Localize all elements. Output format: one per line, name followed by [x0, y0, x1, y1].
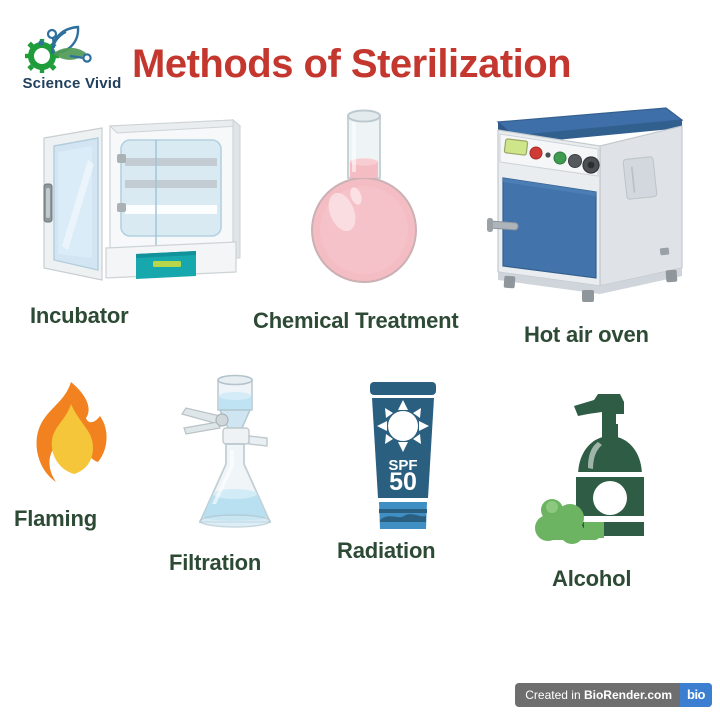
- round-bottom-flask-icon: [294, 100, 434, 300]
- hand-sanitizer-pump-bottle-icon: [528, 388, 688, 553]
- method-label-flaming: Flaming: [14, 506, 97, 532]
- page-title: Methods of Sterilization: [132, 42, 692, 87]
- method-card-incubator: Incubator: [18, 108, 250, 338]
- biorender-credit-brand: BioRender.com: [584, 688, 672, 702]
- method-label-filtration: Filtration: [169, 550, 261, 576]
- biorender-credit-prefix: Created in: [525, 688, 584, 702]
- incubator-icon: [18, 108, 250, 298]
- leaf-gear-molecule-icon: [8, 22, 136, 78]
- method-card-filtration: Filtration: [158, 372, 318, 587]
- spf-value: 50: [389, 468, 417, 496]
- biorender-logo: bio: [680, 683, 712, 707]
- method-label-incubator: Incubator: [30, 303, 128, 329]
- method-label-alcohol: Alcohol: [552, 566, 631, 592]
- brand-logo: Science Vivid: [8, 22, 136, 104]
- method-card-radiation: SPF 50 Radiation: [330, 378, 480, 578]
- biorender-credit-text: Created in BioRender.com: [515, 683, 680, 707]
- sunscreen-tube-icon: SPF 50: [348, 378, 458, 533]
- header: Science Vivid Methods of Sterilization: [0, 14, 720, 104]
- method-label-radiation: Radiation: [337, 538, 435, 564]
- filtration-apparatus-icon: [168, 372, 303, 544]
- hot-air-oven-icon: [470, 100, 696, 312]
- method-label-hot-air-oven: Hot air oven: [524, 322, 649, 348]
- method-card-chemical-treatment: Chemical Treatment: [250, 100, 474, 352]
- method-card-hot-air-oven: Hot air oven: [462, 100, 706, 358]
- method-card-flaming: Flaming: [14, 378, 144, 553]
- method-label-chemical-treatment: Chemical Treatment: [253, 308, 458, 334]
- method-card-alcohol: Alcohol: [510, 388, 700, 608]
- flame-icon: [22, 378, 118, 498]
- biorender-credit-badge[interactable]: Created in BioRender.com bio: [515, 683, 712, 707]
- brand-name: Science Vivid: [8, 76, 136, 92]
- infographic-canvas: Science Vivid Methods of Sterilization: [0, 0, 720, 715]
